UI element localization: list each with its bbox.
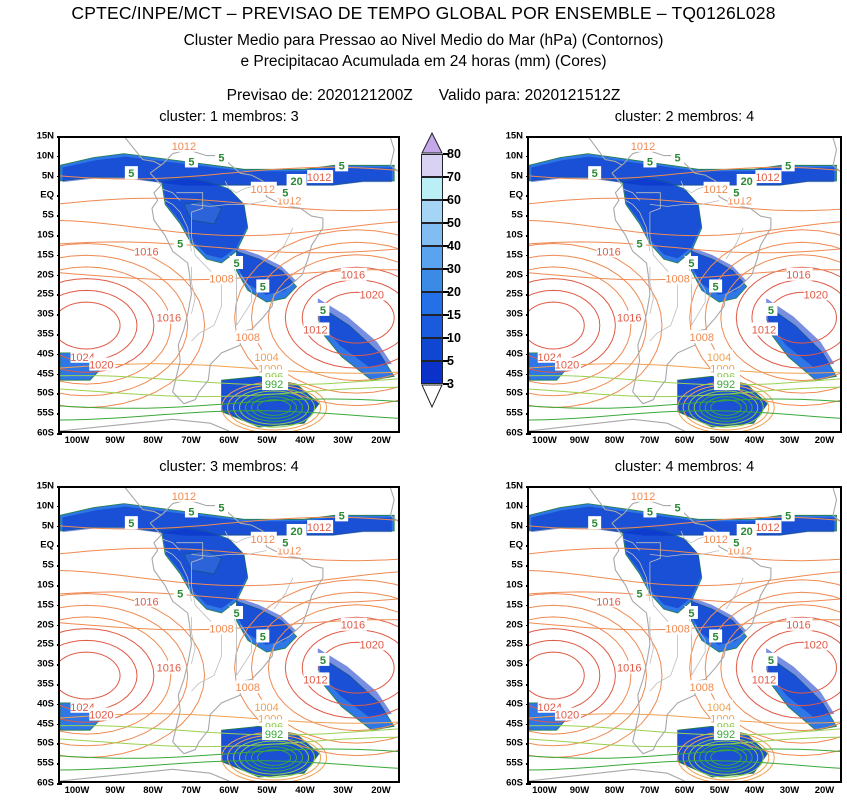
colorbar-extend-low-arrow (421, 384, 443, 408)
y-tick-label: 10N (506, 500, 523, 511)
colorbar-tick-mark (443, 268, 449, 270)
svg-text:992: 992 (265, 729, 283, 741)
colorbar-tick-mark (443, 199, 449, 201)
x-tick-label: 60W (675, 435, 695, 446)
svg-text:1016: 1016 (617, 313, 641, 325)
y-tick-label: 25S (506, 289, 523, 300)
svg-text:5: 5 (339, 510, 345, 522)
svg-text:5: 5 (177, 588, 183, 600)
x-tick-label: 90W (105, 785, 125, 796)
colorbar-segment (421, 338, 443, 361)
y-tick-label: 20S (37, 619, 54, 630)
colorbar-tick-mark (443, 291, 449, 293)
svg-text:1012: 1012 (251, 534, 275, 546)
svg-text:1008: 1008 (690, 682, 714, 694)
svg-text:1008: 1008 (236, 682, 260, 694)
svg-text:5: 5 (320, 305, 326, 317)
y-tick-label: 35S (37, 329, 54, 340)
colorbar-tick-mark (443, 245, 449, 247)
svg-text:1016: 1016 (157, 663, 181, 675)
plot-area: 1012101210121012101610161020101610241020… (60, 138, 398, 431)
y-tick-label: 35S (506, 679, 523, 690)
y-tick-label: EQ (509, 190, 523, 201)
svg-text:1012: 1012 (755, 522, 779, 534)
svg-text:1016: 1016 (341, 620, 365, 632)
y-tick-label: 5S (511, 210, 523, 221)
y-tick-label: 60S (506, 778, 523, 789)
svg-text:1016: 1016 (134, 596, 158, 608)
x-tick-label: 60W (675, 785, 695, 796)
y-tick-label: 10S (506, 580, 523, 591)
svg-text:5: 5 (339, 160, 345, 172)
map-panel-cluster-3[interactable]: 1012101210121012101610161020101610241020… (58, 486, 400, 783)
x-tick-label: 20W (371, 785, 391, 796)
y-tick-label: 30S (506, 659, 523, 670)
y-tick-label: 30S (37, 309, 54, 320)
x-tick-label: 70W (181, 785, 201, 796)
x-tick-label: 90W (570, 785, 590, 796)
y-tick-label: 60S (506, 428, 523, 439)
y-axis-cluster-1: 15N10N5NEQ5S10S15S20S25S30S35S40S45S50S5… (18, 136, 56, 433)
y-tick-label: 25S (37, 639, 54, 650)
colorbar-segment (421, 269, 443, 292)
y-tick-label: 45S (37, 368, 54, 379)
svg-text:5: 5 (260, 281, 266, 293)
y-tick-label: 35S (37, 679, 54, 690)
y-tick-label: 10S (506, 230, 523, 241)
colorbar-tick-mark (443, 222, 449, 224)
x-tick-label: 100W (65, 785, 90, 796)
x-tick-label: 70W (640, 785, 660, 796)
y-tick-label: 5N (511, 520, 523, 531)
x-tick-label: 30W (780, 435, 800, 446)
colorbar-tick-mark (443, 337, 449, 339)
x-tick-label: 80W (143, 785, 163, 796)
svg-text:1012: 1012 (703, 534, 727, 546)
svg-text:1016: 1016 (134, 246, 158, 258)
x-tick-label: 80W (605, 435, 625, 446)
x-tick-label: 50W (257, 435, 277, 446)
y-tick-label: 30S (37, 659, 54, 670)
svg-text:1016: 1016 (617, 663, 641, 675)
colorbar-tick-label: 70 (447, 170, 461, 184)
y-tick-label: 5N (42, 520, 54, 531)
x-tick-label: 20W (371, 435, 391, 446)
colorbar-segment (421, 223, 443, 246)
y-tick-label: 30S (506, 309, 523, 320)
svg-text:1012: 1012 (303, 674, 327, 686)
x-tick-label: 80W (143, 435, 163, 446)
y-tick-label: 15N (506, 131, 523, 142)
plot-area: 1012101210121012101610161020101610241020… (529, 138, 840, 431)
panel-title-cluster-2: cluster: 2 membros: 4 (527, 109, 842, 125)
y-tick-label: 50S (37, 738, 54, 749)
x-tick-label: 100W (532, 785, 557, 796)
svg-text:1016: 1016 (596, 596, 620, 608)
svg-text:1016: 1016 (786, 620, 810, 632)
svg-text:5: 5 (592, 518, 598, 530)
x-tick-label: 40W (745, 785, 765, 796)
svg-text:5: 5 (785, 510, 791, 522)
y-tick-label: 40S (37, 348, 54, 359)
svg-text:1012: 1012 (752, 324, 776, 336)
svg-text:5: 5 (592, 168, 598, 180)
svg-text:1008: 1008 (690, 332, 714, 344)
y-tick-label: 15S (37, 249, 54, 260)
y-tick-label: 50S (506, 738, 523, 749)
x-tick-label: 90W (105, 435, 125, 446)
y-tick-label: 40S (506, 348, 523, 359)
x-axis-cluster-4: 100W90W80W70W60W50W40W30W20W (527, 784, 842, 800)
svg-text:992: 992 (265, 379, 283, 391)
svg-text:5: 5 (733, 538, 739, 550)
x-tick-label: 30W (780, 785, 800, 796)
svg-text:5: 5 (177, 238, 183, 250)
valid-for-label: Valido para: 2020121512Z (439, 87, 621, 105)
page-title: CPTEC/INPE/MCT – PREVISAO DE TEMPO GLOBA… (0, 3, 847, 24)
svg-text:1016: 1016 (596, 246, 620, 258)
svg-text:1012: 1012 (172, 141, 196, 153)
y-tick-label: 15S (37, 599, 54, 610)
svg-text:5: 5 (647, 156, 653, 168)
colorbar-tick-label: 10 (447, 331, 461, 345)
svg-text:1020: 1020 (555, 710, 579, 722)
svg-text:5: 5 (713, 281, 719, 293)
colorbar-tick-mark (443, 383, 449, 385)
x-tick-label: 60W (219, 435, 239, 446)
colorbar-tick-label: 60 (447, 193, 461, 207)
y-axis-cluster-3: 15N10N5NEQ5S10S15S20S25S30S35S40S45S50S5… (18, 486, 56, 783)
svg-text:1020: 1020 (89, 710, 113, 722)
svg-text:1012: 1012 (307, 172, 331, 184)
y-tick-label: 20S (506, 269, 523, 280)
svg-text:5: 5 (768, 655, 774, 667)
svg-text:1016: 1016 (786, 270, 810, 282)
forecast-dates: Previsao de: 2020121200ZValido para: 202… (0, 87, 847, 105)
colorbar-tick-label: 40 (447, 239, 461, 253)
x-tick-label: 30W (333, 785, 353, 796)
y-tick-label: 5N (42, 170, 54, 181)
svg-text:992: 992 (717, 729, 735, 741)
y-tick-label: EQ (509, 540, 523, 551)
x-axis-cluster-3: 100W90W80W70W60W50W40W30W20W (58, 784, 400, 800)
svg-text:1012: 1012 (307, 522, 331, 534)
y-tick-label: 5S (511, 560, 523, 571)
svg-text:5: 5 (233, 608, 239, 620)
colorbar-segment (421, 246, 443, 269)
x-tick-label: 40W (295, 435, 315, 446)
svg-text:5: 5 (675, 503, 681, 515)
svg-text:5: 5 (768, 305, 774, 317)
svg-text:5: 5 (647, 506, 653, 518)
svg-text:5: 5 (637, 238, 643, 250)
svg-text:1020: 1020 (804, 289, 828, 301)
y-tick-label: 10N (37, 150, 54, 161)
svg-text:5: 5 (320, 655, 326, 667)
plot-area: 1012101210121012101610161020101610241020… (529, 488, 840, 781)
y-tick-label: 15N (506, 481, 523, 492)
svg-text:1020: 1020 (89, 360, 113, 372)
y-tick-label: 15N (37, 481, 54, 492)
svg-text:992: 992 (717, 379, 735, 391)
colorbar-tick-mark (443, 176, 449, 178)
colorbar-tick-label: 80 (447, 147, 461, 161)
svg-text:20: 20 (290, 526, 302, 538)
panel-title-cluster-3: cluster: 3 membros: 4 (58, 459, 400, 475)
x-tick-label: 50W (710, 785, 730, 796)
svg-text:1020: 1020 (359, 639, 383, 651)
svg-text:1020: 1020 (359, 289, 383, 301)
svg-text:5: 5 (785, 160, 791, 172)
x-tick-label: 20W (815, 785, 835, 796)
colorbar-segment (421, 154, 443, 177)
x-tick-label: 60W (219, 785, 239, 796)
y-tick-label: 55S (506, 408, 523, 419)
x-tick-label: 70W (640, 435, 660, 446)
x-tick-label: 30W (333, 435, 353, 446)
colorbar-tick-label: 20 (447, 285, 461, 299)
svg-text:1016: 1016 (341, 270, 365, 282)
y-tick-label: 40S (506, 698, 523, 709)
svg-text:5: 5 (713, 631, 719, 643)
y-tick-label: 10N (506, 150, 523, 161)
svg-text:5: 5 (188, 156, 194, 168)
svg-text:1012: 1012 (755, 172, 779, 184)
y-axis-cluster-4: 15N10N5NEQ5S10S15S20S25S30S35S40S45S50S5… (487, 486, 525, 783)
x-tick-label: 50W (710, 435, 730, 446)
colorbar-segment (421, 361, 443, 384)
y-tick-label: 15S (506, 249, 523, 260)
svg-text:1008: 1008 (209, 624, 233, 636)
y-tick-label: 40S (37, 698, 54, 709)
y-tick-label: EQ (40, 190, 54, 201)
y-tick-label: 5S (42, 210, 54, 221)
svg-text:1008: 1008 (209, 274, 233, 286)
y-tick-label: 5S (42, 560, 54, 571)
svg-text:1012: 1012 (631, 491, 655, 503)
colorbar-tick-label: 50 (447, 216, 461, 230)
panel-title-cluster-1: cluster: 1 membros: 3 (58, 109, 400, 125)
colorbar-tick-mark (443, 153, 449, 155)
colorbar-extend-high-arrow (421, 132, 443, 154)
svg-text:1008: 1008 (236, 332, 260, 344)
plot-area: 1012101210121012101610161020101610241020… (60, 488, 398, 781)
x-axis-cluster-1: 100W90W80W70W60W50W40W30W20W (58, 434, 400, 450)
colorbar-segment (421, 292, 443, 315)
svg-text:5: 5 (188, 506, 194, 518)
x-tick-label: 40W (745, 435, 765, 446)
x-tick-label: 70W (181, 435, 201, 446)
forecast-from-label: Previsao de: 2020121200Z (227, 87, 413, 105)
y-tick-label: 25S (37, 289, 54, 300)
y-tick-label: 60S (37, 428, 54, 439)
map-panel-cluster-2[interactable]: 1012101210121012101610161020101610241020… (527, 136, 842, 433)
y-tick-label: 10N (37, 500, 54, 511)
svg-text:1012: 1012 (631, 141, 655, 153)
svg-text:5: 5 (260, 631, 266, 643)
x-tick-label: 100W (532, 435, 557, 446)
y-tick-label: 10S (37, 580, 54, 591)
y-tick-label: 15S (506, 599, 523, 610)
svg-text:1008: 1008 (665, 274, 689, 286)
y-tick-label: 60S (37, 778, 54, 789)
y-tick-label: 50S (37, 388, 54, 399)
colorbar-tick-mark (443, 314, 449, 316)
map-panel-cluster-4[interactable]: 1012101210121012101610161020101610241020… (527, 486, 842, 783)
subtitle-line-1: Cluster Medio para Pressao ao Nivel Medi… (0, 32, 847, 50)
y-tick-label: 5N (511, 170, 523, 181)
svg-text:5: 5 (282, 188, 288, 200)
svg-text:5: 5 (637, 588, 643, 600)
svg-text:5: 5 (233, 258, 239, 270)
y-tick-label: 45S (506, 718, 523, 729)
colorbar-tick-label: 30 (447, 262, 461, 276)
y-tick-label: 35S (506, 329, 523, 340)
svg-text:1020: 1020 (804, 639, 828, 651)
x-tick-label: 20W (815, 435, 835, 446)
svg-text:5: 5 (282, 538, 288, 550)
y-tick-label: 10S (37, 230, 54, 241)
y-tick-label: 55S (37, 408, 54, 419)
panel-title-cluster-4: cluster: 4 membros: 4 (527, 459, 842, 475)
y-tick-label: 55S (506, 758, 523, 769)
svg-text:1012: 1012 (752, 674, 776, 686)
svg-text:1008: 1008 (665, 624, 689, 636)
svg-text:5: 5 (218, 153, 224, 165)
svg-text:1016: 1016 (157, 313, 181, 325)
y-tick-label: 20S (37, 269, 54, 280)
y-tick-label: 45S (506, 368, 523, 379)
svg-text:5: 5 (128, 518, 134, 530)
colorbar-segment (421, 177, 443, 200)
svg-text:1020: 1020 (555, 360, 579, 372)
svg-text:1012: 1012 (703, 184, 727, 196)
colorbar-segment (421, 315, 443, 338)
x-tick-label: 80W (605, 785, 625, 796)
y-tick-label: 55S (37, 758, 54, 769)
x-tick-label: 90W (570, 435, 590, 446)
svg-text:5: 5 (733, 188, 739, 200)
subtitle-line-2: e Precipitacao Acumulada em 24 horas (mm… (0, 53, 847, 71)
x-tick-label: 50W (257, 785, 277, 796)
svg-text:20: 20 (290, 176, 302, 188)
svg-text:5: 5 (128, 168, 134, 180)
colorbar-precipitation[interactable]: 35101520304050607080 (421, 132, 481, 437)
x-axis-cluster-2: 100W90W80W70W60W50W40W30W20W (527, 434, 842, 450)
svg-text:5: 5 (688, 258, 694, 270)
y-tick-label: EQ (40, 540, 54, 551)
y-tick-label: 20S (506, 619, 523, 630)
svg-text:5: 5 (688, 608, 694, 620)
y-axis-cluster-2: 15N10N5NEQ5S10S15S20S25S30S35S40S45S50S5… (487, 136, 525, 433)
svg-text:5: 5 (218, 503, 224, 515)
x-tick-label: 100W (65, 435, 90, 446)
y-tick-label: 15N (37, 131, 54, 142)
colorbar-tick-label: 15 (447, 308, 461, 322)
y-tick-label: 25S (506, 639, 523, 650)
x-tick-label: 40W (295, 785, 315, 796)
svg-text:1012: 1012 (303, 324, 327, 336)
map-panel-cluster-1[interactable]: 1012101210121012101610161020101610241020… (58, 136, 400, 433)
svg-text:1012: 1012 (251, 184, 275, 196)
colorbar-tick-mark (443, 360, 449, 362)
y-tick-label: 45S (37, 718, 54, 729)
svg-text:5: 5 (675, 153, 681, 165)
y-tick-label: 50S (506, 388, 523, 399)
svg-text:1012: 1012 (172, 491, 196, 503)
colorbar-segment (421, 200, 443, 223)
